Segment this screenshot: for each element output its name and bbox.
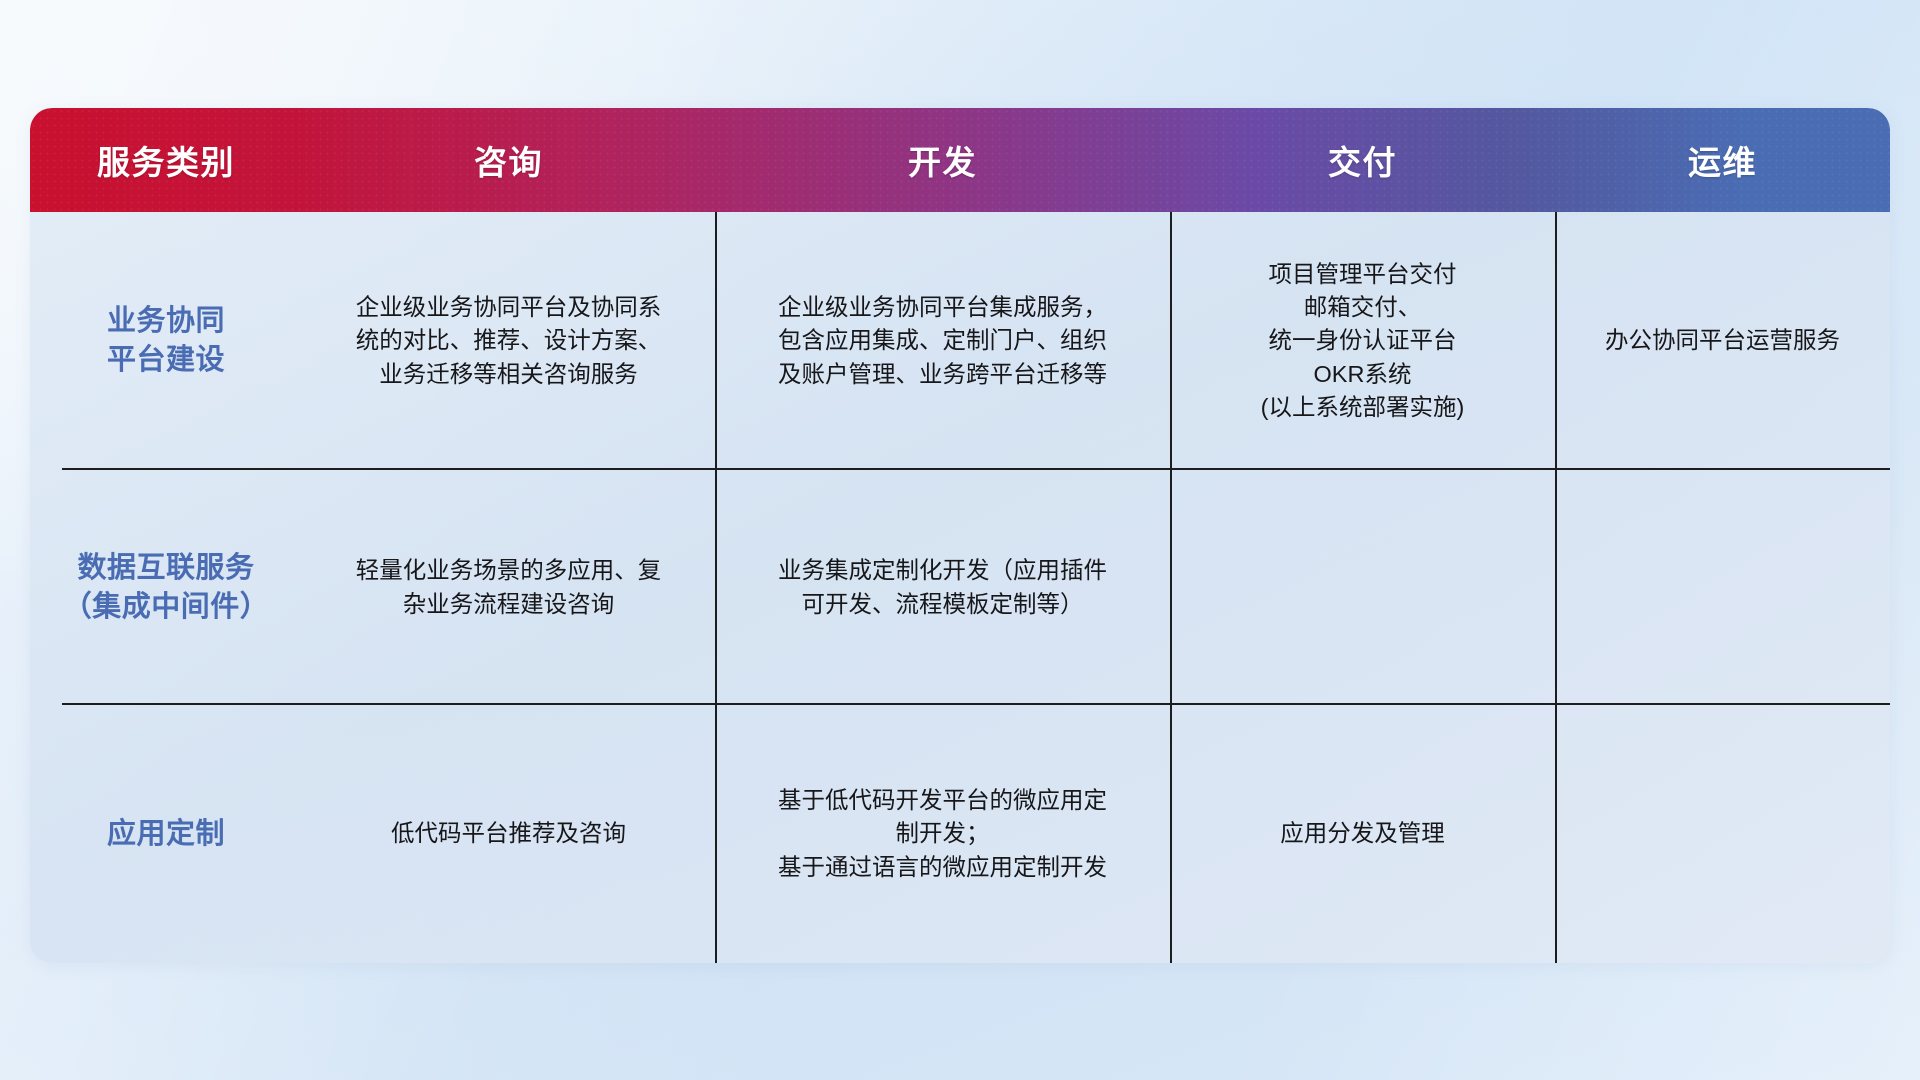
column-header-development: 开发 xyxy=(715,108,1170,212)
row-header-cell: 数据互联服务 （集成中间件） xyxy=(30,470,302,705)
cell-text: 企业级业务协同平台及协同系 统的对比、推荐、设计方案、 业务迁移等相关咨询服务 xyxy=(356,291,662,391)
cell-delivery: 应用分发及管理 xyxy=(1170,705,1555,963)
cell-development: 基于低代码开发平台的微应用定 制开发； 基于通过语言的微应用定制开发 xyxy=(715,705,1170,963)
cell-text: 业务集成定制化开发（应用插件 可开发、流程模板定制等） xyxy=(778,554,1107,621)
cell-consulting: 企业级业务协同平台及协同系 统的对比、推荐、设计方案、 业务迁移等相关咨询服务 xyxy=(302,212,715,470)
row-header-cell: 应用定制 xyxy=(30,705,302,963)
column-header-operations: 运维 xyxy=(1555,108,1890,212)
service-matrix-table: 服务类别 咨询 开发 交付 运维 业务协同 平台建设 企业级业务协同平台及协同系… xyxy=(30,108,1890,963)
column-header-delivery: 交付 xyxy=(1170,108,1555,212)
row-label: 数据互联服务 （集成中间件） xyxy=(63,549,270,627)
table-row: 数据互联服务 （集成中间件） 轻量化业务场景的多应用、复 杂业务流程建设咨询 业… xyxy=(30,470,1890,705)
cell-operations xyxy=(1555,470,1890,705)
table-row: 业务协同 平台建设 企业级业务协同平台及协同系 统的对比、推荐、设计方案、 业务… xyxy=(30,212,1890,470)
cell-consulting: 轻量化业务场景的多应用、复 杂业务流程建设咨询 xyxy=(302,470,715,705)
cell-development: 企业级业务协同平台集成服务， 包含应用集成、定制门户、组织 及账户管理、业务跨平… xyxy=(715,212,1170,470)
cell-consulting: 低代码平台推荐及咨询 xyxy=(302,705,715,963)
cell-text: 轻量化业务场景的多应用、复 杂业务流程建设咨询 xyxy=(356,554,662,621)
cell-delivery xyxy=(1170,470,1555,705)
slide-canvas: 服务类别 咨询 开发 交付 运维 业务协同 平台建设 企业级业务协同平台及协同系… xyxy=(0,0,1920,1080)
cell-operations: 办公协同平台运营服务 xyxy=(1555,212,1890,470)
cell-text: 应用分发及管理 xyxy=(1280,817,1445,850)
cell-text: 项目管理平台交付 邮箱交付、 统一身份认证平台 OKR系统 (以上系统部署实施) xyxy=(1261,258,1465,425)
cell-text: 基于低代码开发平台的微应用定 制开发； 基于通过语言的微应用定制开发 xyxy=(778,784,1107,884)
cell-text: 办公协同平台运营服务 xyxy=(1605,324,1840,357)
row-label: 应用定制 xyxy=(107,815,225,854)
cell-text: 低代码平台推荐及咨询 xyxy=(391,817,626,850)
row-label: 业务协同 平台建设 xyxy=(107,302,225,380)
cell-operations xyxy=(1555,705,1890,963)
table-row: 应用定制 低代码平台推荐及咨询 基于低代码开发平台的微应用定 制开发； 基于通过… xyxy=(30,705,1890,963)
cell-delivery: 项目管理平台交付 邮箱交付、 统一身份认证平台 OKR系统 (以上系统部署实施) xyxy=(1170,212,1555,470)
column-header-category: 服务类别 xyxy=(30,108,302,212)
cell-text: 企业级业务协同平台集成服务， 包含应用集成、定制门户、组织 及账户管理、业务跨平… xyxy=(778,291,1107,391)
row-header-cell: 业务协同 平台建设 xyxy=(30,212,302,470)
column-header-consulting: 咨询 xyxy=(302,108,715,212)
table-body: 业务协同 平台建设 企业级业务协同平台及协同系 统的对比、推荐、设计方案、 业务… xyxy=(30,212,1890,963)
table-header-row: 服务类别 咨询 开发 交付 运维 xyxy=(30,108,1890,212)
cell-development: 业务集成定制化开发（应用插件 可开发、流程模板定制等） xyxy=(715,470,1170,705)
